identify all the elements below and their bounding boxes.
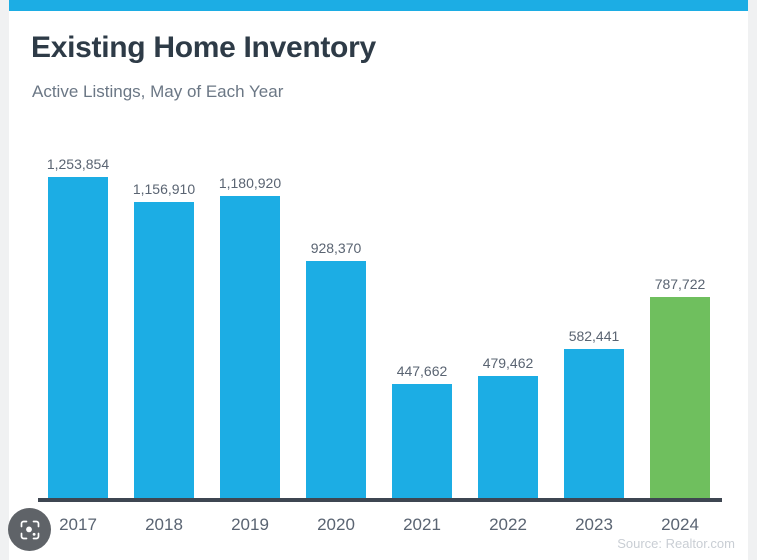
bar-rect[interactable] [134, 202, 194, 499]
google-lens-icon [18, 518, 42, 542]
bar-value-label: 447,662 [376, 363, 468, 379]
bar-chart-plot-area: 1,253,85420171,156,91020181,180,92020199… [9, 0, 748, 560]
x-axis-line [38, 498, 722, 502]
x-axis-tick-label: 2020 [290, 515, 382, 535]
bar-value-label: 479,462 [462, 355, 554, 371]
bar-rect[interactable] [48, 177, 108, 499]
bar-rect[interactable] [650, 297, 710, 499]
google-lens-button[interactable] [8, 508, 51, 551]
x-axis-tick-label: 2019 [204, 515, 296, 535]
x-axis-tick-label: 2022 [462, 515, 554, 535]
x-axis-tick-label: 2018 [118, 515, 210, 535]
x-axis-tick-label: 2021 [376, 515, 468, 535]
bar-value-label: 1,180,920 [204, 175, 296, 191]
x-axis-tick-label: 2024 [634, 515, 726, 535]
bar-value-label: 787,722 [634, 276, 726, 292]
bar-rect[interactable] [220, 196, 280, 499]
chart-card: Existing Home Inventory Active Listings,… [9, 0, 748, 560]
bar-rect[interactable] [306, 261, 366, 499]
bar-rect[interactable] [392, 384, 452, 499]
bar-value-label: 582,441 [548, 328, 640, 344]
bar-value-label: 1,156,910 [118, 181, 210, 197]
x-axis-tick-label: 2023 [548, 515, 640, 535]
bar-rect[interactable] [564, 349, 624, 499]
bar-value-label: 928,370 [290, 240, 382, 256]
bar-rect[interactable] [478, 376, 538, 499]
source-note: Source: Realtor.com [617, 536, 735, 551]
bar-value-label: 1,253,854 [32, 156, 124, 172]
